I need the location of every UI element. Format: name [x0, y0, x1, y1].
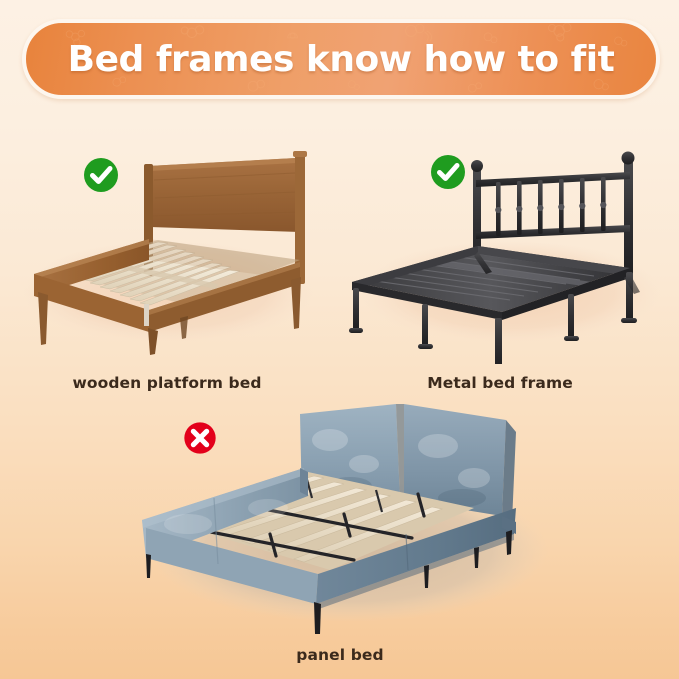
bed-label-metal-bed-frame: Metal bed frame: [330, 374, 670, 392]
infographic-page: Bed frames know how to fit: [0, 0, 679, 679]
header-banner: Bed frames know how to fit: [22, 19, 660, 99]
bed-label-wooden-platform-bed: wooden platform bed: [8, 374, 326, 392]
banner-pill: Bed frames know how to fit: [22, 19, 660, 99]
wooden-platform-bed-illustration: [8, 132, 326, 364]
bed-label-panel-bed: panel bed: [118, 646, 562, 664]
center-support-leg: [144, 304, 149, 326]
green-check-circle-icon: [428, 152, 468, 192]
green-check-circle-icon: [81, 155, 121, 195]
bed-card-metal-bed-frame[interactable]: Metal bed frame: [330, 132, 670, 394]
metal-bed-frame-illustration: [330, 132, 670, 364]
page-title: Bed frames know how to fit: [26, 23, 656, 95]
bed-card-wooden-platform-bed[interactable]: wooden platform bed: [8, 132, 326, 394]
red-cross-circle-icon: [181, 419, 219, 457]
